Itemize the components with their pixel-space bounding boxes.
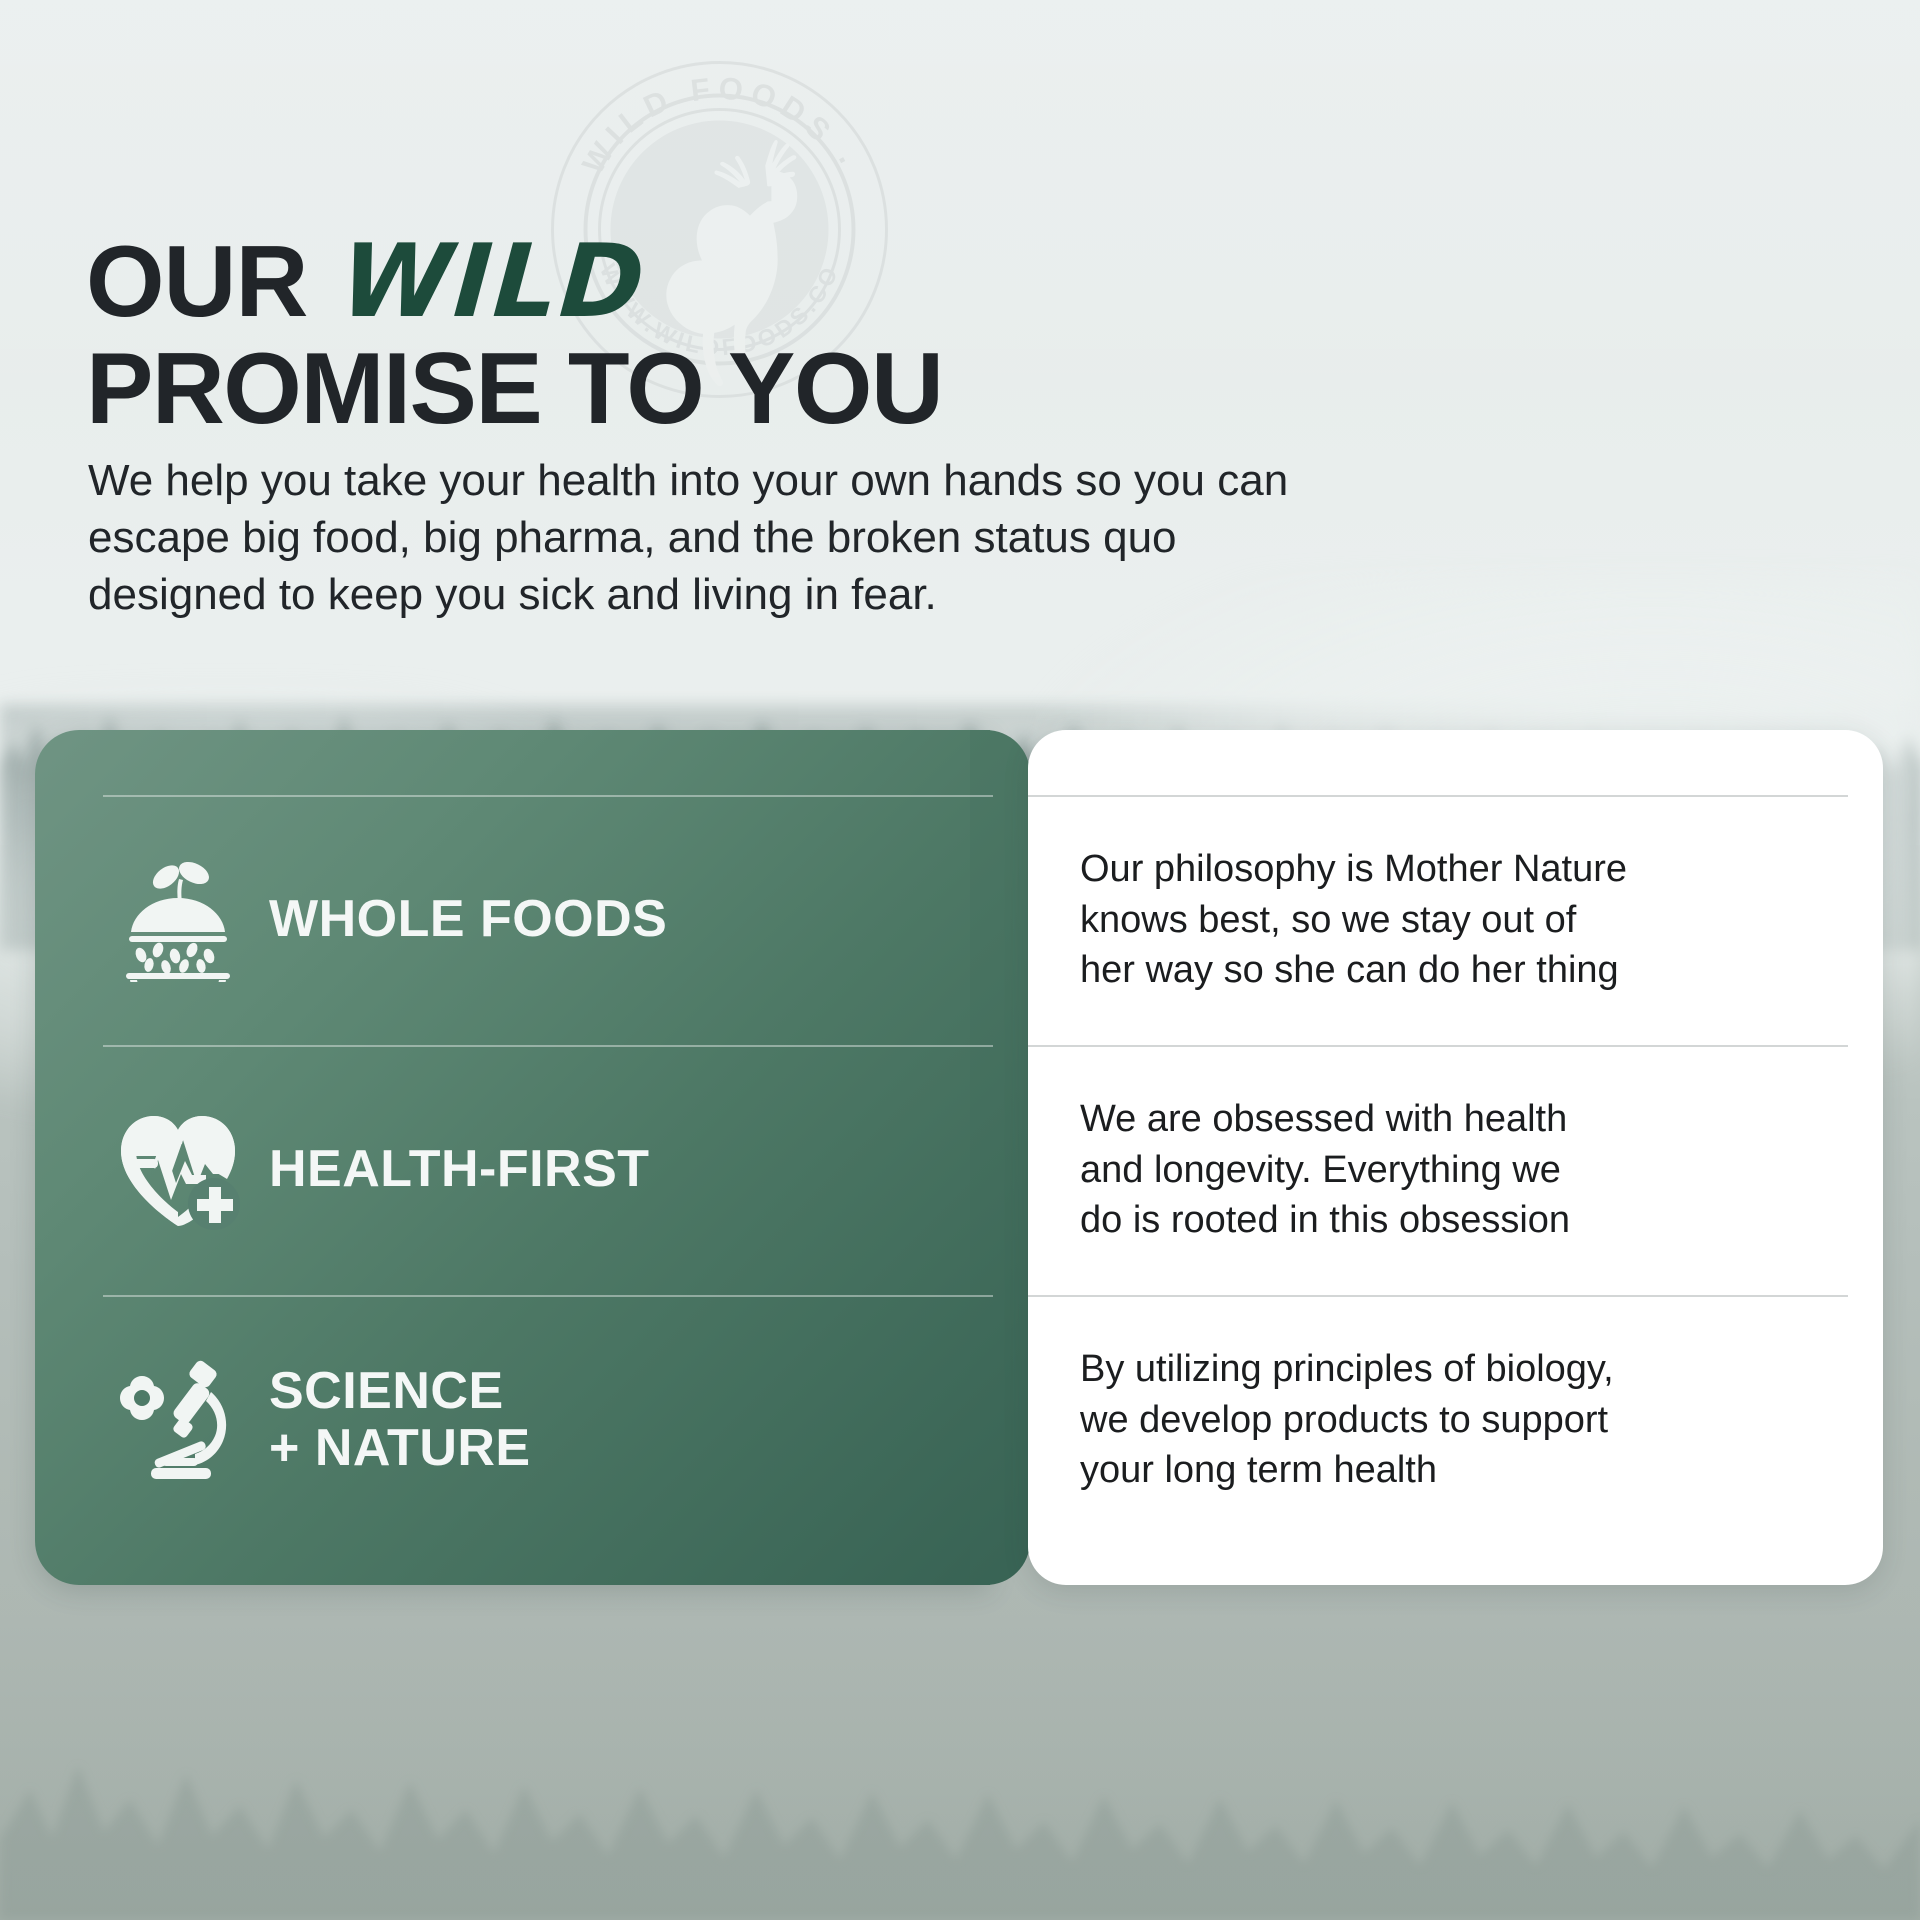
headline-word-wild: WILD (337, 222, 650, 340)
promise-title-line-2: + NATURE (269, 1420, 531, 1477)
promise-desc-line-1: We are obsessed with health (1080, 1094, 1570, 1145)
divider-white-mid-1 (1028, 1045, 1848, 1047)
divider-green-mid-2 (103, 1295, 993, 1297)
promise-rows: WHOLE FOODS Our philosophy is Mother Nat… (0, 730, 1920, 1585)
promise-title-line-1: HEALTH-FIRST (269, 1141, 650, 1198)
promise-row: WHOLE FOODS Our philosophy is Mother Nat… (0, 795, 1920, 1045)
headline-line-two: PROMISE TO YOU (86, 334, 1086, 445)
headline-word-our: OUR (86, 226, 307, 338)
promise-title: WHOLE FOODS (269, 891, 667, 948)
promise-row-title-side: SCIENCE + NATURE (35, 1295, 990, 1545)
promise-row-title-side: HEALTH-FIRST (35, 1045, 990, 1295)
promise-row: SCIENCE + NATURE By utilizing principles… (0, 1295, 1920, 1545)
divider-green-mid-1 (103, 1045, 993, 1047)
intro-line-2: escape big food, big pharma, and the bro… (88, 509, 1528, 566)
page-title: OURWILD PROMISE TO YOU (86, 222, 1086, 445)
promise-title: HEALTH-FIRST (269, 1141, 650, 1198)
promise-desc-line-3: do is rooted in this obsession (1080, 1195, 1570, 1246)
microscope-icon (103, 1358, 253, 1482)
promise-row-title-side: WHOLE FOODS (35, 795, 990, 1045)
promise-title-line-1: SCIENCE (269, 1363, 531, 1420)
promise-row-description-side: Our philosophy is Mother Nature knows be… (1028, 795, 1883, 1045)
divider-white-mid-2 (1028, 1295, 1848, 1297)
promise-desc-line-2: knows best, so we stay out of (1080, 895, 1627, 946)
promise-row: HEALTH-FIRST We are obsessed with health… (0, 1045, 1920, 1295)
intro-paragraph: We help you take your health into your o… (88, 452, 1528, 624)
divider-green-top (103, 795, 993, 797)
intro-line-3: designed to keep you sick and living in … (88, 566, 1528, 623)
promise-cards: WHOLE FOODS Our philosophy is Mother Nat… (0, 730, 1920, 1585)
promise-desc-line-3: your long term health (1080, 1445, 1614, 1496)
promise-row-description-side: We are obsessed with health and longevit… (1028, 1045, 1883, 1295)
divider-white-top (1028, 795, 1848, 797)
promise-description: We are obsessed with health and longevit… (1080, 1094, 1570, 1246)
promise-description: By utilizing principles of biology, we d… (1080, 1344, 1614, 1496)
promise-title-line-1: WHOLE FOODS (269, 891, 667, 948)
whole-foods-bowl-icon (103, 858, 253, 982)
promise-desc-line-1: Our philosophy is Mother Nature (1080, 844, 1627, 895)
promise-desc-line-1: By utilizing principles of biology, (1080, 1344, 1614, 1395)
promise-desc-line-2: we develop products to support (1080, 1395, 1614, 1446)
promise-title: SCIENCE + NATURE (269, 1363, 531, 1477)
promise-row-description-side: By utilizing principles of biology, we d… (1028, 1295, 1883, 1545)
intro-line-1: We help you take your health into your o… (88, 452, 1528, 509)
promise-desc-line-3: her way so she can do her thing (1080, 945, 1627, 996)
promise-desc-line-2: and longevity. Everything we (1080, 1145, 1570, 1196)
heart-pulse-plus-icon (103, 1109, 253, 1231)
promise-description: Our philosophy is Mother Nature knows be… (1080, 844, 1627, 996)
